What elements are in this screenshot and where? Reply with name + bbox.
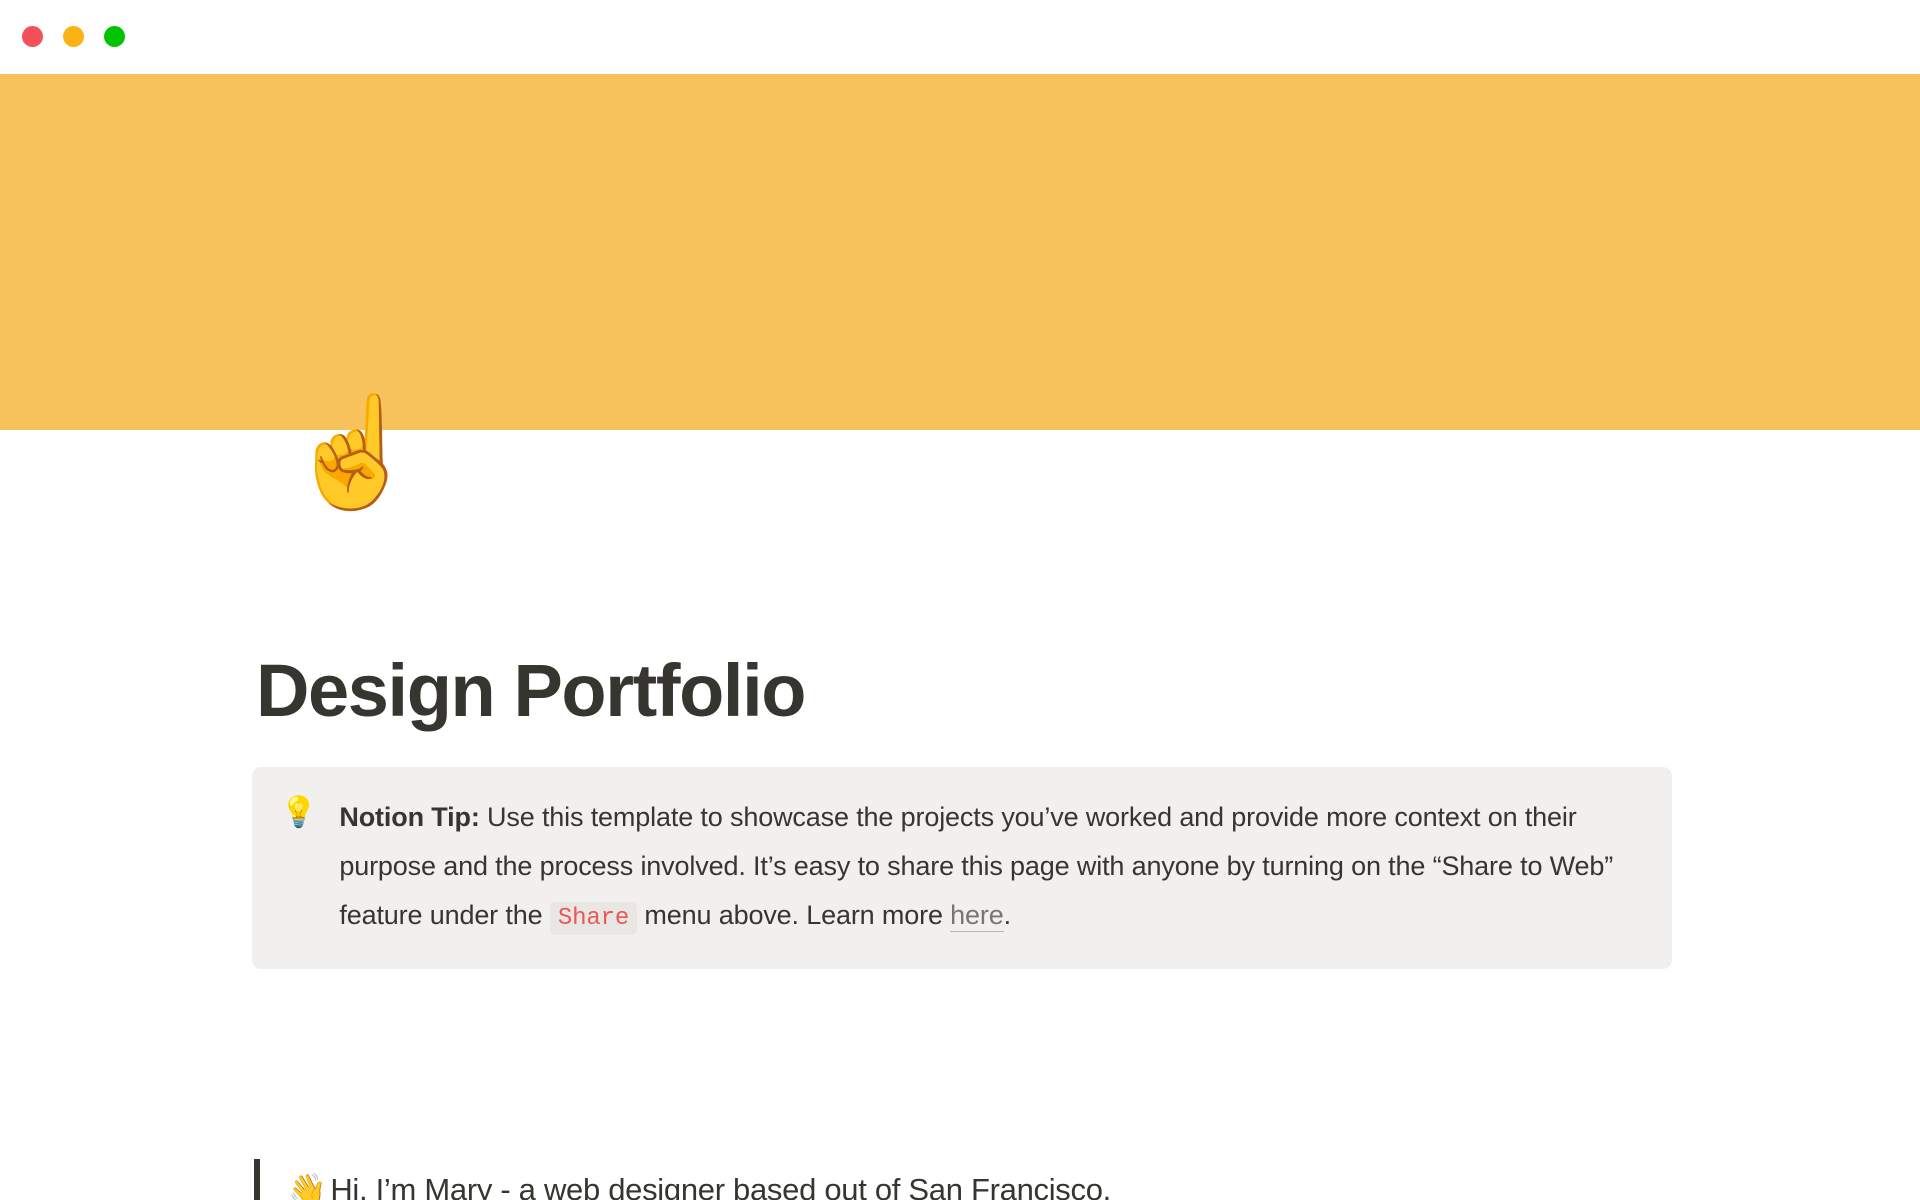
waving-hand-icon: 👋	[288, 1172, 326, 1200]
minimize-window-button[interactable]	[63, 26, 84, 47]
notion-tip-callout[interactable]: 💡 Notion Tip: Use this template to showc…	[252, 767, 1672, 969]
index-pointing-up-icon[interactable]: ☝️	[286, 399, 420, 507]
traffic-light-controls	[22, 26, 125, 47]
callout-label: Notion Tip:	[339, 802, 479, 832]
callout-text: Notion Tip: Use this template to showcas…	[339, 793, 1642, 943]
share-code-chip: Share	[550, 902, 637, 935]
learn-more-here-link[interactable]: here	[950, 900, 1003, 932]
intro-quote-sentence: Hi, I’m Mary - a web designer based out …	[330, 1172, 1111, 1200]
page-body: ☝️ Design Portfolio 💡 Notion Tip: Use th…	[0, 74, 1920, 1200]
intro-quote-text: 👋Hi, I’m Mary - a web designer based out…	[288, 1169, 1111, 1200]
callout-body-part-2: menu above. Learn more	[637, 900, 950, 930]
maximize-window-button[interactable]	[104, 26, 125, 47]
app-window: ☝️ Design Portfolio 💡 Notion Tip: Use th…	[0, 0, 1920, 1200]
intro-quote-block[interactable]: 👋Hi, I’m Mary - a web designer based out…	[254, 1159, 1674, 1200]
light-bulb-icon: 💡	[280, 793, 317, 833]
close-window-button[interactable]	[22, 26, 43, 47]
page-title[interactable]: Design Portfolio	[256, 650, 805, 731]
callout-body-part-3: .	[1004, 900, 1011, 930]
window-titlebar	[0, 0, 1920, 74]
